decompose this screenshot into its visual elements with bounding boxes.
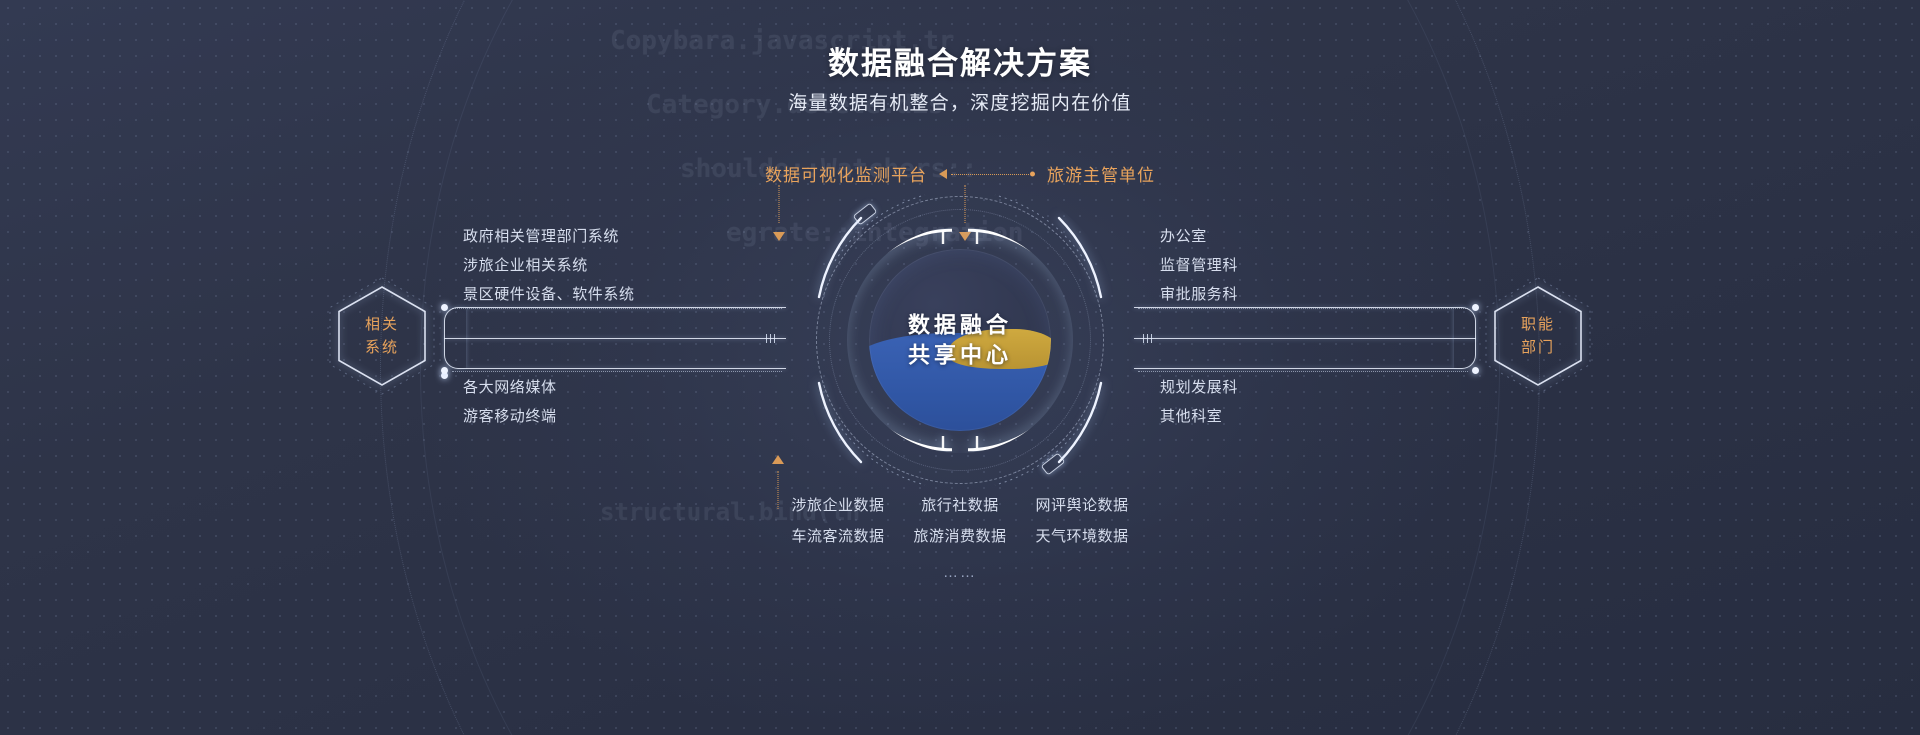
connector-ticks-icon xyxy=(1143,334,1152,343)
connector-node xyxy=(441,304,448,311)
hex-badge-right-text: 职能 部门 xyxy=(1492,313,1584,359)
connector-line xyxy=(1134,368,1454,369)
right-bottom-department-list: 规划发展科 其他科室 xyxy=(1160,373,1238,431)
connector-node xyxy=(1472,367,1479,374)
data-more-ellipsis: …… xyxy=(943,564,977,581)
data-cell[interactable]: 旅行社数据 xyxy=(899,490,1021,521)
hex-badge-related-systems[interactable]: 相关 系统 xyxy=(336,284,428,388)
data-row: 涉旅企业数据 旅行社数据 网评舆论数据 xyxy=(777,490,1143,521)
hex-right-line1: 职能 xyxy=(1492,313,1584,336)
hex-badge-left-text: 相关 系统 xyxy=(336,313,428,359)
poster-stage: Copybara.javascript.tr Category.delete.d… xyxy=(0,0,1920,735)
list-item[interactable]: 涉旅企业相关系统 xyxy=(463,251,635,280)
list-item[interactable]: 政府相关管理部门系统 xyxy=(463,222,635,251)
connector-node xyxy=(1472,304,1479,311)
hex-left-line1: 相关 xyxy=(336,313,428,336)
center-label-line1: 数据融合 xyxy=(908,310,1012,340)
connector-bracket-icon xyxy=(1454,307,1476,369)
list-item[interactable]: 规划发展科 xyxy=(1160,373,1238,402)
list-item[interactable]: 监督管理科 xyxy=(1160,251,1238,280)
list-item[interactable]: 其他科室 xyxy=(1160,402,1238,431)
data-cell[interactable]: 旅游消费数据 xyxy=(899,521,1021,552)
data-cell[interactable]: 车流客流数据 xyxy=(777,521,899,552)
data-row: 车流客流数据 旅游消费数据 天气环境数据 xyxy=(777,521,1143,552)
hex-right-line2: 部门 xyxy=(1492,336,1584,359)
central-ring-system: 数据融合 共享中心 xyxy=(780,160,1140,520)
connector-dotted-line xyxy=(452,371,782,372)
hex-badge-functional-departments[interactable]: 职能 部门 xyxy=(1492,284,1584,388)
right-top-department-list: 办公室 监督管理科 审批服务科 xyxy=(1160,222,1238,309)
list-item[interactable]: 游客移动终端 xyxy=(463,402,557,431)
connector-line xyxy=(444,338,786,339)
page-title: 数据融合解决方案 xyxy=(0,38,1920,83)
data-cell[interactable]: 网评舆论数据 xyxy=(1021,490,1143,521)
connector-line xyxy=(1134,338,1476,339)
connector-line xyxy=(466,368,786,369)
list-item[interactable]: 办公室 xyxy=(1160,222,1238,251)
list-item[interactable]: 各大网络媒体 xyxy=(463,373,557,402)
connector-dotted-line xyxy=(1138,371,1468,372)
page-subtitle: 海量数据有机整合，深度挖掘内在价值 xyxy=(0,88,1920,115)
center-label: 数据融合 共享中心 xyxy=(908,310,1012,369)
left-top-source-list: 政府相关管理部门系统 涉旅企业相关系统 景区硬件设备、软件系统 xyxy=(463,222,635,309)
left-bottom-source-list: 各大网络媒体 游客移动终端 xyxy=(463,373,557,431)
data-cell[interactable]: 天气环境数据 xyxy=(1021,521,1143,552)
data-cell[interactable]: 涉旅企业数据 xyxy=(777,490,899,521)
list-item[interactable]: 景区硬件设备、软件系统 xyxy=(463,280,635,309)
bottom-data-sources: 涉旅企业数据 旅行社数据 网评舆论数据 车流客流数据 旅游消费数据 天气环境数据… xyxy=(0,490,1920,581)
center-label-line2: 共享中心 xyxy=(908,340,1012,370)
connector-node xyxy=(441,367,448,374)
connector-ticks-icon xyxy=(766,334,775,343)
hex-left-line2: 系统 xyxy=(336,336,428,359)
list-item[interactable]: 审批服务科 xyxy=(1160,280,1238,309)
